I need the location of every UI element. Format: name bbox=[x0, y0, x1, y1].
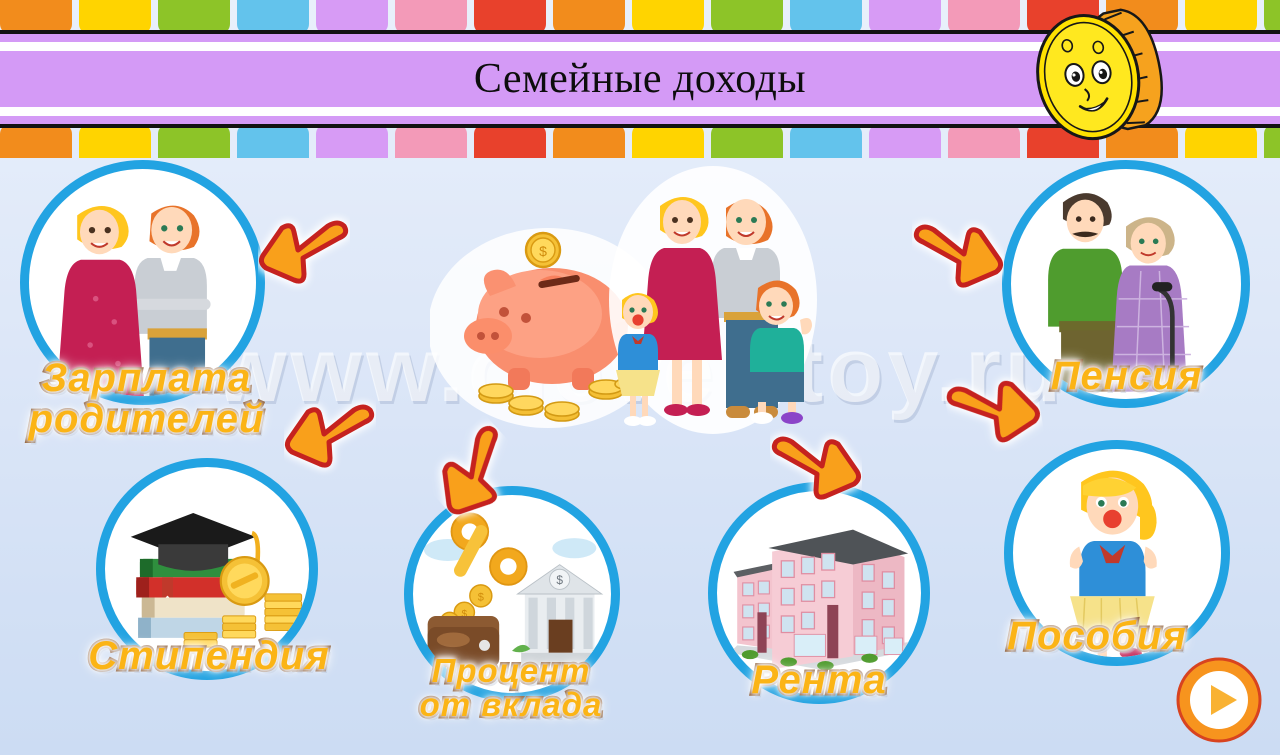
decor-tile bbox=[395, 124, 467, 158]
decor-tile bbox=[632, 0, 704, 34]
decor-tile bbox=[474, 0, 546, 34]
decor-tile bbox=[553, 124, 625, 158]
card-interest-label: Процент от вклада bbox=[376, 654, 646, 721]
slide-canvas: Семейные доходы bbox=[0, 0, 1280, 755]
decor-tile bbox=[79, 124, 151, 158]
svg-text:$: $ bbox=[539, 243, 547, 259]
decor-tile bbox=[948, 0, 1020, 34]
family-of-four-icon bbox=[608, 160, 818, 435]
decor-tile bbox=[1185, 124, 1257, 158]
decor-tile bbox=[0, 124, 72, 158]
decor-tile bbox=[1185, 0, 1257, 34]
card-salary-label: Зарплата родителей bbox=[14, 358, 279, 440]
arrow-rent-in bbox=[770, 428, 862, 508]
card-pension-label: Пенсия bbox=[1024, 356, 1229, 397]
decor-tile bbox=[316, 124, 388, 158]
decor-tile bbox=[632, 124, 704, 158]
decor-tile bbox=[316, 0, 388, 34]
decor-tile bbox=[237, 124, 309, 158]
decor-tile bbox=[869, 0, 941, 34]
decor-tile bbox=[711, 0, 783, 34]
decor-tile bbox=[869, 124, 941, 158]
central-family-illustration bbox=[608, 160, 818, 435]
play-button[interactable] bbox=[1176, 657, 1262, 743]
decor-tile bbox=[948, 124, 1020, 158]
smiling-coin-icon bbox=[1012, 2, 1184, 148]
arrow-salary-in bbox=[258, 212, 350, 292]
decor-tile bbox=[711, 124, 783, 158]
card-stipend-label: Стипендия bbox=[64, 636, 354, 677]
decor-tile bbox=[474, 124, 546, 158]
decor-tile bbox=[1264, 124, 1280, 158]
card-benefits-label: Пособия bbox=[962, 616, 1232, 657]
card-rent-label: Рента bbox=[716, 660, 922, 701]
decor-tile bbox=[1264, 0, 1280, 34]
decor-tile bbox=[158, 124, 230, 158]
decor-tile bbox=[790, 124, 862, 158]
arrow-stipend-in bbox=[284, 396, 376, 476]
decor-tile bbox=[79, 0, 151, 34]
svg-text:$: $ bbox=[556, 573, 563, 587]
decor-tile bbox=[0, 0, 72, 34]
decor-tile bbox=[237, 0, 309, 34]
decor-tile bbox=[553, 0, 625, 34]
arrow-benefits-in bbox=[942, 365, 1046, 460]
decor-tile bbox=[395, 0, 467, 34]
decor-tile bbox=[790, 0, 862, 34]
decor-tile bbox=[158, 0, 230, 34]
arrow-pension-in bbox=[912, 216, 1004, 296]
svg-text:$: $ bbox=[478, 591, 484, 603]
